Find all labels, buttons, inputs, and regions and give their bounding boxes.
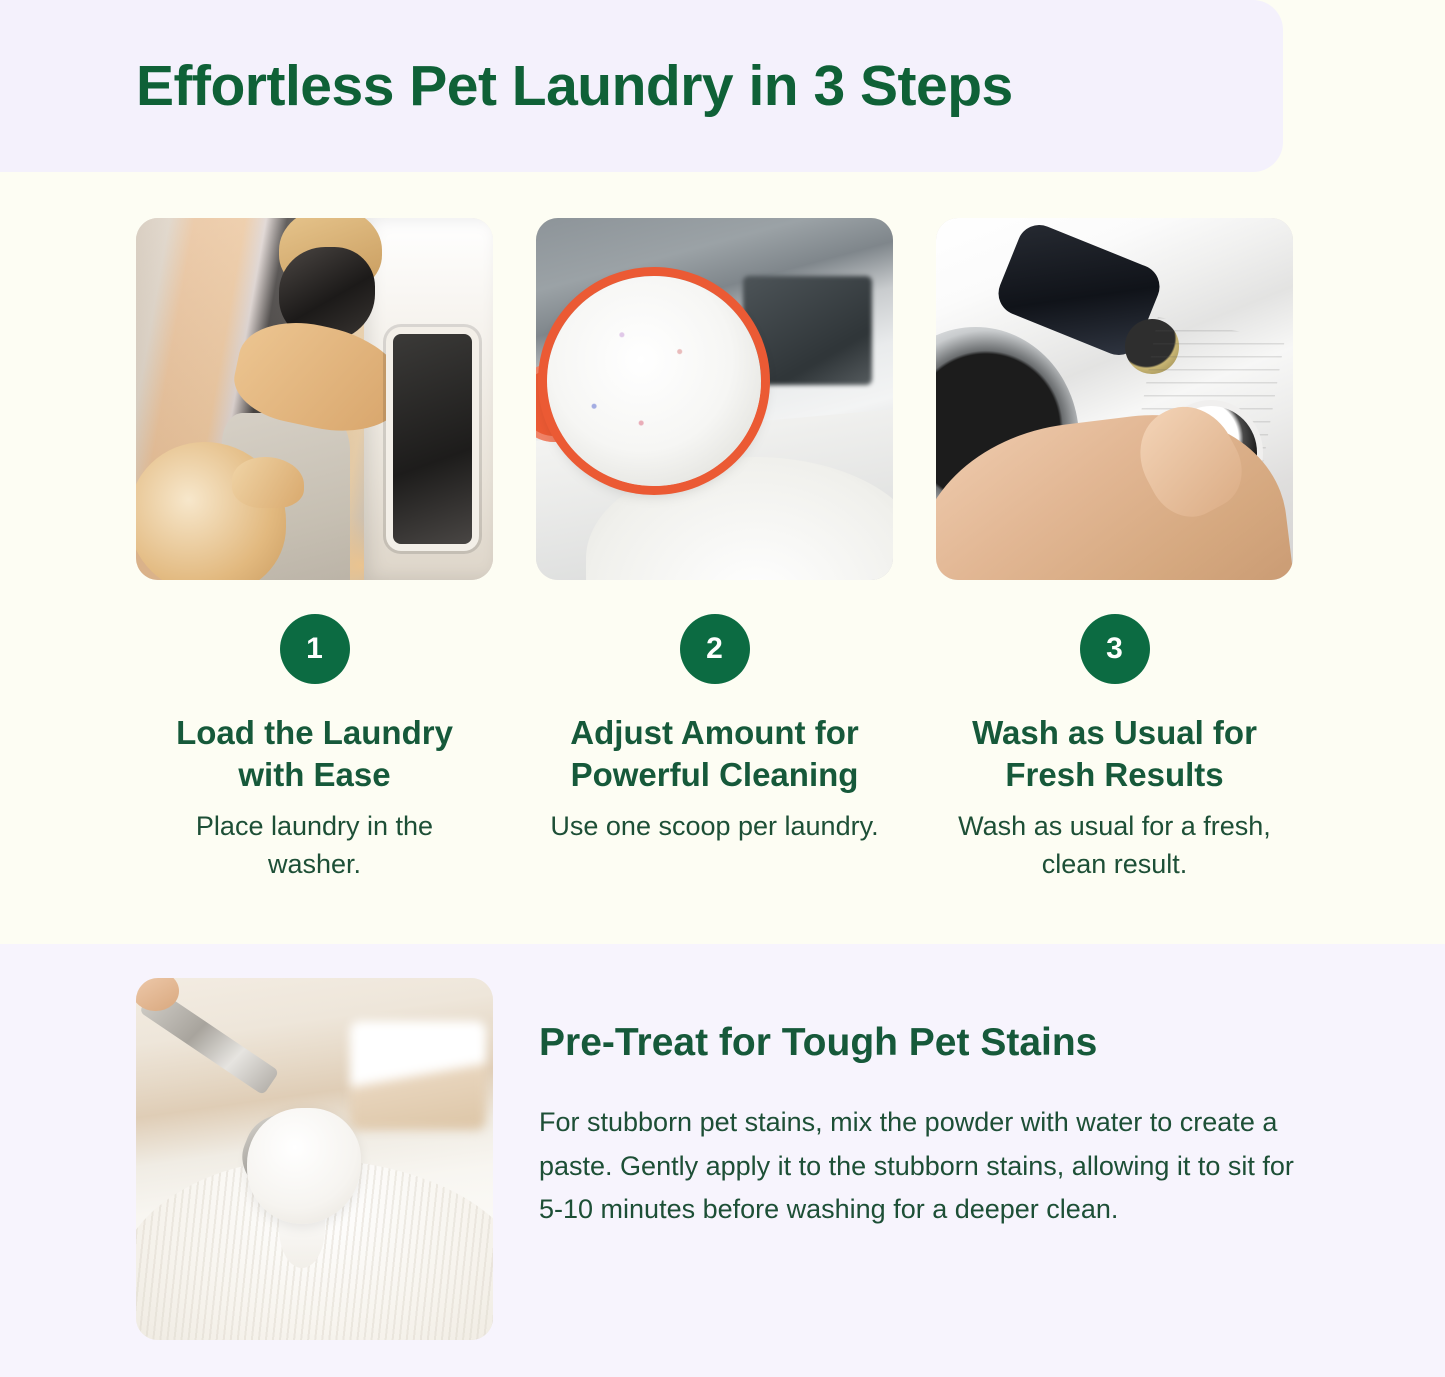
pre-treat-inner: Pre-Treat for Tough Pet Stains For stubb…	[136, 978, 1309, 1340]
step-card-2: 2 Adjust Amount for Powerful Cleaning Us…	[536, 218, 893, 883]
step-heading-3: Wash as Usual for Fresh Results	[950, 712, 1280, 796]
step-card-3: 3 Wash as Usual for Fresh Results Wash a…	[936, 218, 1293, 883]
header-band: Effortless Pet Laundry in 3 Steps	[0, 0, 1283, 172]
step-description-3: Wash as usual for a fresh, clean result.	[950, 808, 1280, 883]
step-description-1: Place laundry in the washer.	[150, 808, 480, 883]
washer-door-shape	[393, 334, 472, 544]
drawer-slot-shape	[743, 276, 872, 385]
step-number-badge-3: 3	[1080, 614, 1150, 684]
pre-treat-image	[136, 978, 493, 1340]
detergent-scoop-photo	[536, 218, 893, 580]
child-loading-washer-photo	[136, 218, 493, 580]
step-number-badge-1: 1	[280, 614, 350, 684]
scoop-cup-shape	[547, 276, 761, 486]
step-card-1: 1 Load the Laundry with Ease Place laund…	[136, 218, 493, 883]
step-1-image	[136, 218, 493, 580]
detergent-paste-spoon-photo	[136, 978, 493, 1340]
pre-treat-text-block: Pre-Treat for Tough Pet Stains For stubb…	[539, 978, 1309, 1340]
washing-machine-dial-photo	[936, 218, 1293, 580]
step-number-badge-2: 2	[680, 614, 750, 684]
page-title: Effortless Pet Laundry in 3 Steps	[136, 55, 1013, 118]
step-2-image	[536, 218, 893, 580]
pre-treat-heading: Pre-Treat for Tough Pet Stains	[539, 1020, 1309, 1067]
steps-row: 1 Load the Laundry with Ease Place laund…	[136, 218, 1293, 883]
step-description-2: Use one scoop per laundry.	[550, 808, 878, 845]
folded-towels-background-shape	[350, 1021, 486, 1130]
pre-treat-paragraph: For stubborn pet stains, mix the powder …	[539, 1101, 1309, 1232]
pre-treat-section: Pre-Treat for Tough Pet Stains For stubb…	[0, 944, 1445, 1377]
step-heading-1: Load the Laundry with Ease	[150, 712, 480, 796]
steps-section: 1 Load the Laundry with Ease Place laund…	[0, 172, 1445, 944]
step-heading-2: Adjust Amount for Powerful Cleaning	[550, 712, 880, 796]
step-3-image	[936, 218, 1293, 580]
